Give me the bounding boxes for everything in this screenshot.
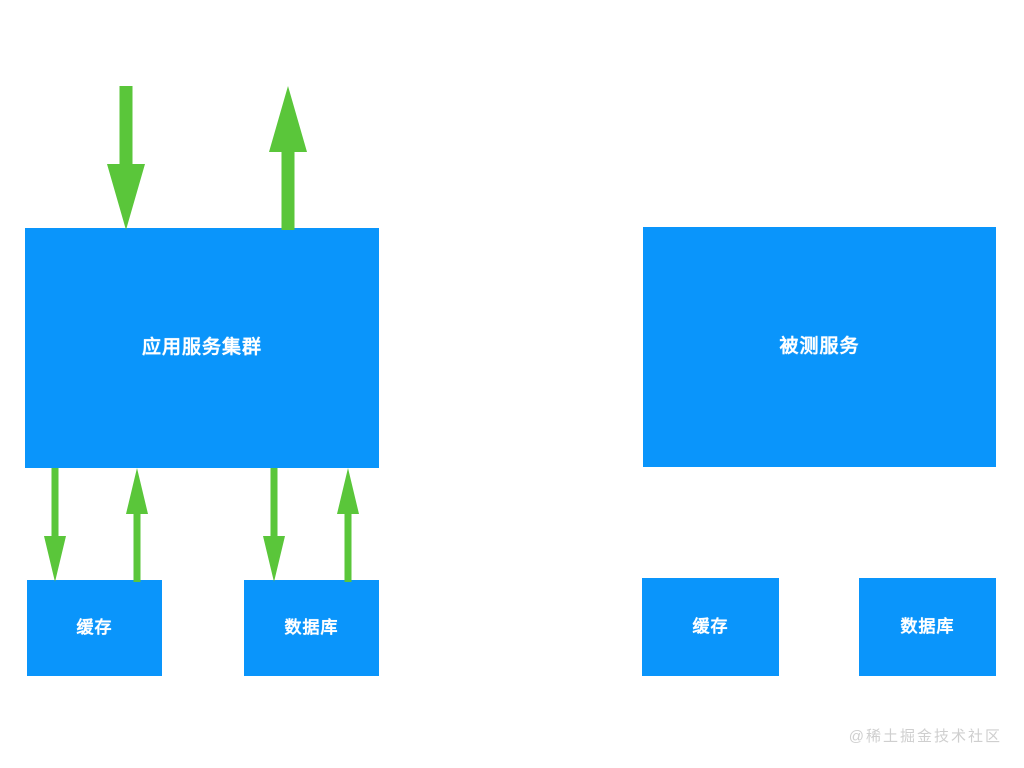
node-label-database-right: 数据库 bbox=[901, 617, 955, 637]
arrow-down-app-to-database bbox=[263, 468, 285, 582]
node-label-cache-right: 缓存 bbox=[693, 617, 729, 637]
arrow-up-cache-to-app-shape bbox=[126, 468, 148, 582]
diagram-canvas: 应用服务集群 缓存 数据库 被测服务 缓存 数据库 @稀土掘金技术社区 bbox=[0, 0, 1024, 768]
node-label-database-left: 数据库 bbox=[285, 618, 339, 638]
node-service-under-test: 被测服务 bbox=[643, 227, 996, 467]
node-cache-left: 缓存 bbox=[27, 580, 162, 676]
node-database-left: 数据库 bbox=[244, 580, 379, 676]
arrow-up-cache-to-app bbox=[126, 468, 148, 582]
node-label-app-service-cluster: 应用服务集群 bbox=[142, 337, 262, 360]
node-cache-right: 缓存 bbox=[642, 578, 779, 676]
arrow-up-outbound-response bbox=[269, 86, 307, 230]
arrow-down-inbound-request bbox=[107, 86, 145, 230]
arrow-down-inbound-request-shape bbox=[107, 86, 145, 230]
arrow-up-database-to-app bbox=[337, 468, 359, 582]
arrow-up-database-to-app-shape bbox=[337, 468, 359, 582]
node-database-right: 数据库 bbox=[859, 578, 996, 676]
arrow-up-outbound-response-shape bbox=[269, 86, 307, 230]
arrow-down-app-to-cache bbox=[44, 468, 66, 582]
arrow-down-app-to-database-shape bbox=[263, 468, 285, 582]
watermark-text: @稀土掘金技术社区 bbox=[849, 725, 1002, 746]
node-label-cache-left: 缓存 bbox=[77, 618, 113, 638]
arrow-down-app-to-cache-shape bbox=[44, 468, 66, 582]
node-label-service-under-test: 被测服务 bbox=[779, 336, 859, 359]
node-app-service-cluster: 应用服务集群 bbox=[25, 228, 379, 468]
